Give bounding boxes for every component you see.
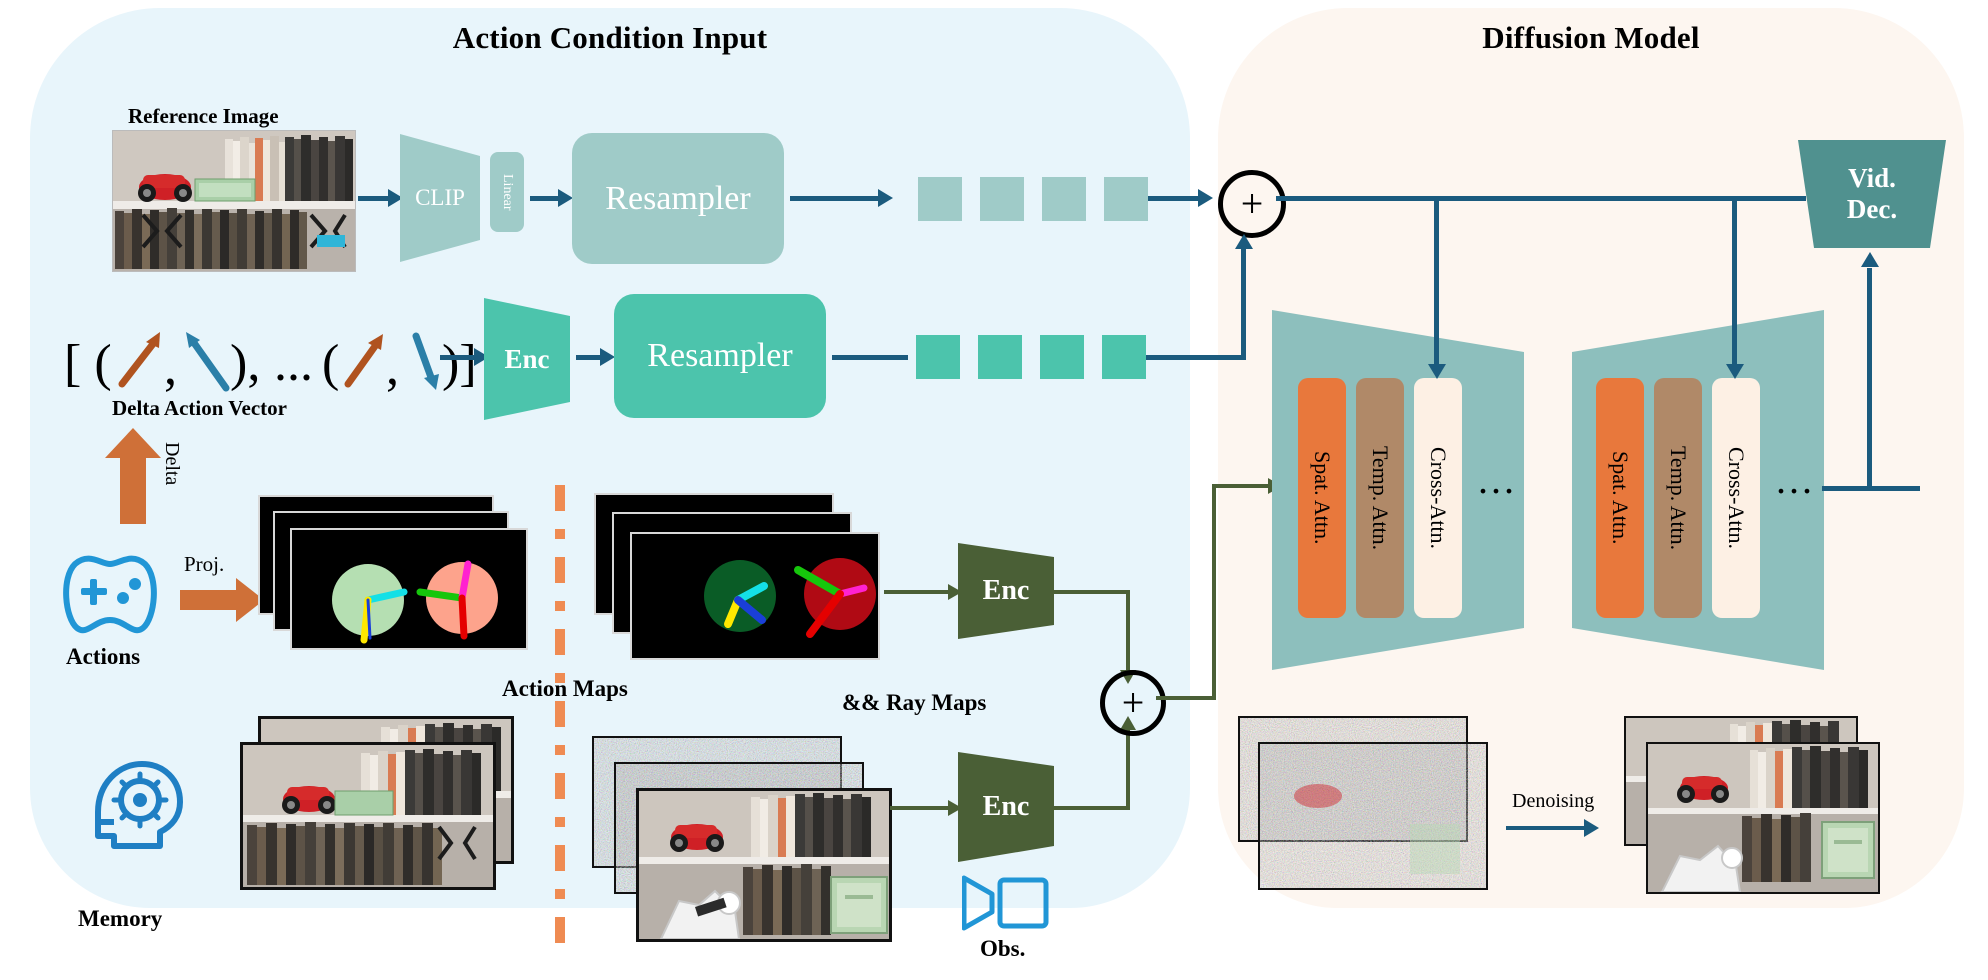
delta-arrow [104, 428, 162, 524]
enc-action-label: Enc [504, 344, 549, 375]
unet-left-temporal-attn: Temp. Attn. [1356, 378, 1404, 618]
gamepad-icon [55, 548, 165, 638]
sum-operator-top-glyph: + [1223, 175, 1281, 233]
arrowhead-linear-to-resampler [558, 189, 573, 207]
obs-photo-front-svg [639, 791, 889, 939]
token-img-4 [1104, 177, 1148, 221]
token-act-4 [1102, 335, 1146, 379]
line-encobs-elbow-h [1052, 806, 1130, 810]
enc-action-block: Enc [484, 298, 570, 420]
enc-obs-block: Enc [958, 752, 1054, 862]
arrowhead-act-to-sum-top [1235, 234, 1253, 249]
line-encmaps-elbow-h [1052, 590, 1130, 594]
camera-icon [962, 872, 1050, 934]
svg-text:[ (: [ ( [64, 335, 112, 392]
actions-label: Actions [66, 644, 140, 670]
resampler-image-label: Resampler [605, 180, 750, 218]
arrowhead-resampler-to-tokens-top [878, 189, 893, 207]
enc-maps-block: Enc [958, 543, 1054, 639]
linear-block: Linear [490, 152, 524, 232]
line-sumtop-bus [1276, 196, 1806, 201]
linear-label: Linear [499, 174, 515, 211]
line-linear-to-resampler [530, 196, 558, 201]
line-bus-down-left [1434, 196, 1439, 372]
resampler-action-block: Resampler [614, 294, 826, 418]
proj-label: Proj. [184, 552, 224, 577]
svg-text:)]: )] [442, 335, 477, 392]
reference-image-photo [112, 130, 356, 272]
line-unet-to-viddec-v [1867, 268, 1872, 490]
resampler-image-block: Resampler [572, 133, 784, 264]
unet-left-ellipsis: ... [1478, 456, 1517, 503]
unet-right-spatial-attn: Spat. Attn. [1596, 378, 1644, 618]
line-sumbottom-to-unet-v [1212, 484, 1216, 698]
unet-right-temporal-attn: Temp. Attn. [1654, 378, 1702, 618]
arrowhead-bus-left-crossattn [1428, 364, 1446, 379]
brain-head-icon [84, 750, 184, 850]
line-resampler-to-tokens-top [790, 196, 878, 201]
ray-map-frame-front [630, 532, 880, 660]
line-sumbottom-to-unet-h1 [1156, 696, 1216, 700]
vid-dec-block: Vid. Dec. [1798, 140, 1946, 248]
delta-arrow-svg [104, 428, 162, 524]
memory-label: Memory [78, 906, 162, 932]
line-act-tokens-elbow-h [1146, 355, 1246, 360]
clip-label: CLIP [415, 185, 465, 211]
arrowhead-to-viddec [1861, 252, 1879, 267]
sum-operator-bottom: + [1100, 670, 1166, 736]
unet-right-cross-attn: Cross-Attn. [1712, 378, 1760, 618]
unet-right-ellipsis: ... [1776, 456, 1815, 503]
line-denoising [1506, 826, 1584, 830]
proj-arrow [180, 578, 264, 622]
line-sumbottom-to-unet-h2 [1212, 484, 1270, 488]
clip-block: CLIP [400, 134, 480, 262]
arrowhead-enc-to-resampler-action [600, 348, 615, 366]
proj-arrow-svg [180, 578, 264, 622]
delta-vector-svg: [ ( , ), ... ( , )] [60, 318, 480, 398]
arrowhead-denoising [1584, 819, 1599, 837]
unet-right-temporal-attn-label: Temp. Attn. [1665, 446, 1691, 550]
line-tokens-to-sum-top [1148, 196, 1198, 201]
vid-dec-label-line1: Vid. [1848, 163, 1896, 194]
sum-operator-top: + [1218, 170, 1286, 238]
action-map-frame-front [290, 528, 528, 650]
denoise-out-front-svg [1648, 744, 1878, 892]
divider-dashdot-1 [555, 485, 565, 950]
action-map-content [292, 530, 526, 648]
unet-left-spatial-attn: Spat. Attn. [1298, 378, 1346, 618]
reference-image-label: Reference Image [128, 104, 279, 129]
vid-dec-label-line2: Dec. [1847, 194, 1897, 225]
unet-left-temporal-attn-label: Temp. Attn. [1367, 446, 1393, 550]
line-act-tokens-elbow-v [1241, 248, 1246, 358]
unet-right-spatial-attn-label: Spat. Attn. [1607, 451, 1633, 545]
line-resampler-action-to-tokens [832, 355, 908, 360]
diagram-canvas: Action Condition Input Diffusion Model R… [0, 0, 1988, 980]
svg-text:,: , [386, 339, 399, 396]
arrowhead-tokens-to-sum-top [1198, 189, 1213, 207]
token-img-2 [980, 177, 1024, 221]
line-enc-to-resampler-action [576, 355, 600, 360]
svg-text:...: ... [274, 335, 313, 392]
camera-icon-svg [962, 872, 1050, 934]
sum-operator-bottom-glyph: + [1105, 675, 1161, 731]
token-act-2 [978, 335, 1022, 379]
denoise-output-front [1646, 742, 1880, 894]
denoising-label: Denoising [1512, 790, 1594, 813]
denoise-noise-front [1260, 744, 1486, 888]
memory-photo-front-svg [243, 745, 493, 887]
token-act-3 [1040, 335, 1084, 379]
gamepad-icon-svg [55, 548, 165, 638]
token-img-3 [1042, 177, 1086, 221]
arrowhead-bus-right-crossattn [1726, 364, 1744, 379]
line-encobs-elbow-v [1126, 730, 1130, 810]
line-encmaps-elbow-v [1126, 590, 1130, 672]
delta-label: Delta [160, 442, 183, 485]
line-refimg-to-clip [358, 196, 388, 201]
line-raymaps-to-enc [884, 590, 948, 594]
token-act-1 [916, 335, 960, 379]
resampler-action-label: Resampler [647, 337, 792, 375]
line-vector-to-enc [440, 355, 474, 360]
memory-photo-front [240, 742, 496, 890]
panel-title-right: Diffusion Model [1218, 20, 1964, 56]
enc-obs-label: Enc [983, 791, 1030, 823]
ray-maps-label: && Ray Maps [842, 690, 986, 716]
shelf-photo-svg [113, 131, 355, 271]
enc-maps-label: Enc [983, 575, 1030, 607]
token-img-1 [918, 177, 962, 221]
panel-title-left: Action Condition Input [30, 20, 1190, 56]
delta-action-vector-expression: [ ( , ), ... ( , )] [60, 318, 480, 398]
svg-text:),: ), [230, 335, 260, 392]
line-obs-to-enc [890, 806, 948, 810]
brain-head-icon-svg [84, 750, 184, 850]
denoise-input-front [1258, 742, 1488, 890]
svg-text:,: , [164, 339, 177, 396]
unet-left-cross-attn-label: Cross-Attn. [1425, 447, 1451, 549]
unet-right-cross-attn-label: Cross-Attn. [1723, 447, 1749, 549]
obs-label: Obs. [980, 936, 1025, 962]
unet-left-cross-attn: Cross-Attn. [1414, 378, 1462, 618]
svg-text:(: ( [322, 335, 339, 392]
line-bus-down-right [1732, 196, 1737, 372]
ray-map-content [632, 534, 878, 658]
obs-photo-front [636, 788, 892, 942]
unet-left-spatial-attn-label: Spat. Attn. [1309, 451, 1335, 545]
delta-action-vector-label: Delta Action Vector [112, 396, 287, 421]
